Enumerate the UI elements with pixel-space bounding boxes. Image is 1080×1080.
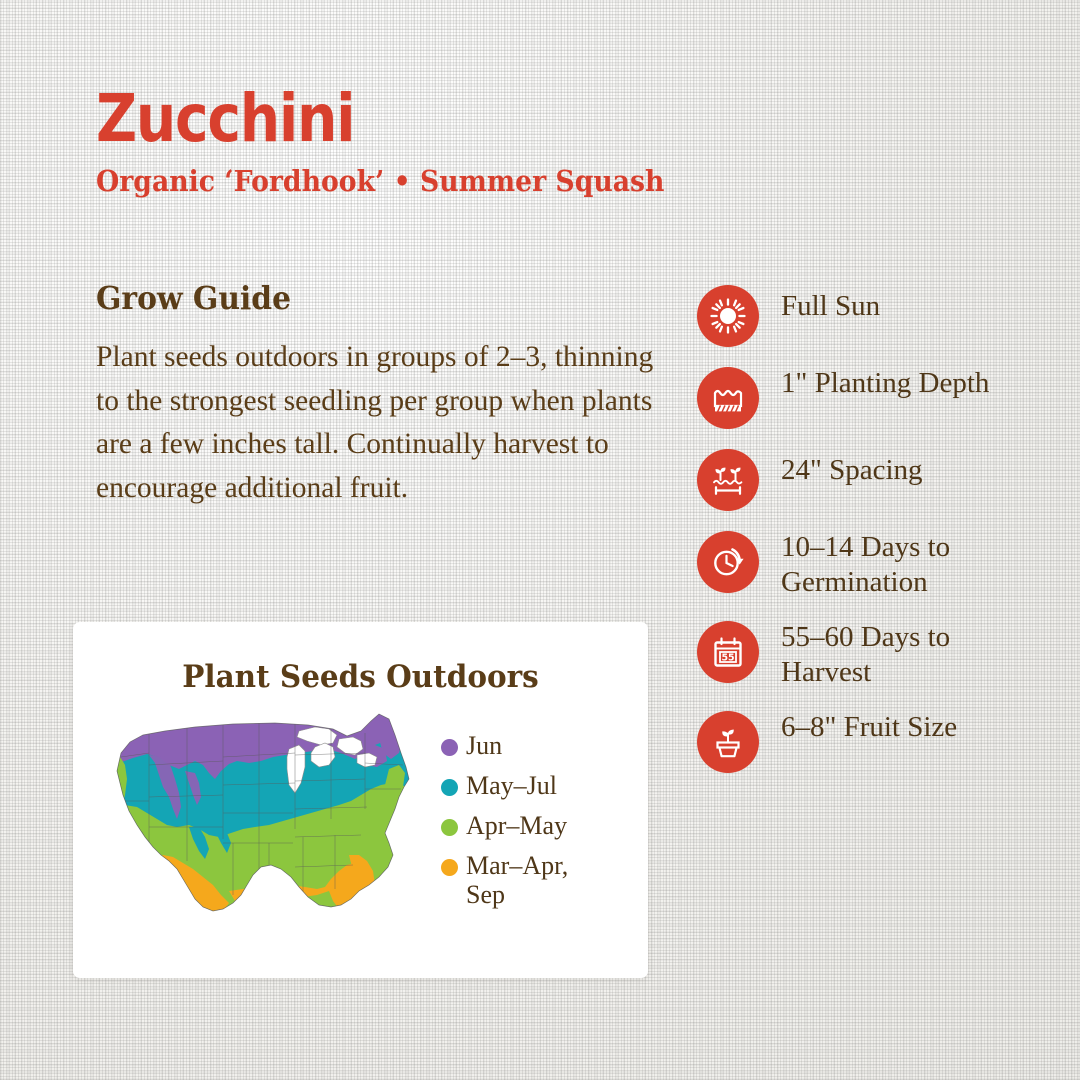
spec-item-fruit-size: 6–8" Fruit Size	[697, 709, 1067, 773]
spec-item-full-sun: Full Sun	[697, 283, 1067, 347]
planting-map-card: Plant Seeds Outdoors	[73, 622, 648, 978]
spec-label-harvest: 55–60 Days to Harvest	[781, 619, 1031, 691]
spec-item-harvest: 55 55–60 Days to Harvest	[697, 619, 1067, 691]
legend-label-may-jul: May–Jul	[466, 771, 557, 800]
spec-label-fruit-size: 6–8" Fruit Size	[781, 709, 957, 745]
spec-label-germination: 10–14 Days to Germination	[781, 529, 1031, 601]
legend-swatch-jun	[441, 739, 458, 756]
map-card-title: Plant Seeds Outdoors	[87, 659, 633, 695]
plant-pot-icon	[697, 711, 759, 773]
seed-packet-page: Zucchini Organic ‘Fordhook’ • Summer Squ…	[0, 0, 1080, 1080]
legend-swatch-may-jul	[441, 779, 458, 796]
planting-depth-icon	[697, 367, 759, 429]
header: Zucchini Organic ‘Fordhook’ • Summer Squ…	[96, 86, 996, 196]
legend-swatch-apr-may	[441, 819, 458, 836]
legend-label-mar-apr-sep: Mar–Apr, Sep	[466, 851, 601, 909]
legend-label-jun: Jun	[466, 731, 502, 760]
legend-item-mar-apr-sep: Mar–Apr, Sep	[441, 851, 601, 909]
calendar-day-number: 55	[721, 652, 734, 663]
legend-item-jun: Jun	[441, 731, 601, 760]
product-subtitle: Organic ‘Fordhook’ • Summer Squash	[96, 167, 924, 196]
spec-label-full-sun: Full Sun	[781, 283, 880, 324]
clock-icon	[697, 531, 759, 593]
legend-item-apr-may: Apr–May	[441, 811, 601, 840]
spec-item-spacing: 24" Spacing	[697, 447, 1067, 511]
spec-label-spacing: 24" Spacing	[781, 447, 923, 488]
page-title: Zucchini	[96, 86, 870, 152]
calendar-icon: 55	[697, 621, 759, 683]
legend-item-may-jul: May–Jul	[441, 771, 601, 800]
grow-guide-body-text: Plant seeds outdoors in groups of 2–3, t…	[96, 336, 681, 511]
spec-item-germination: 10–14 Days to Germination	[697, 529, 1067, 601]
plant-specs-list: Full Sun 1" Planting Depth	[697, 283, 1067, 791]
spacing-icon	[697, 449, 759, 511]
legend-swatch-mar-apr-sep	[441, 859, 458, 876]
grow-guide-section: Grow Guide Plant seeds outdoors in group…	[96, 282, 696, 511]
legend-label-apr-may: Apr–May	[466, 811, 567, 840]
map-body: Jun May–Jul Apr–May Mar–Apr, Sep	[73, 709, 648, 921]
usa-planting-zone-map	[103, 709, 433, 921]
grow-guide-heading: Grow Guide	[96, 282, 654, 314]
spec-item-planting-depth: 1" Planting Depth	[697, 365, 1067, 429]
sun-icon	[697, 285, 759, 347]
map-legend: Jun May–Jul Apr–May Mar–Apr, Sep	[441, 709, 601, 921]
spec-label-planting-depth: 1" Planting Depth	[781, 365, 989, 401]
